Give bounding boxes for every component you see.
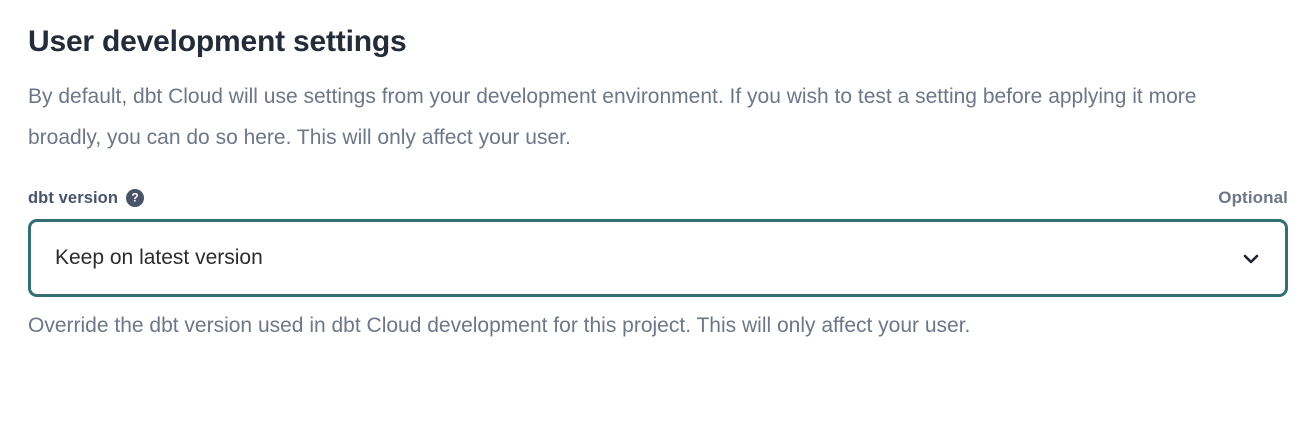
dbt-version-hint: Override the dbt version used in dbt Clo… xyxy=(28,297,1288,341)
help-circle-icon[interactable]: ? xyxy=(126,189,144,207)
dbt-version-selected-value: Keep on latest version xyxy=(55,244,1239,272)
page-title: User development settings xyxy=(28,0,1288,62)
chevron-down-icon xyxy=(1239,246,1263,270)
section-description: By default, dbt Cloud will use settings … xyxy=(28,62,1238,158)
dbt-version-select[interactable]: Keep on latest version xyxy=(28,219,1288,297)
dbt-version-field: dbt version ? Optional Keep on latest ve… xyxy=(28,186,1288,341)
user-development-settings-panel: User development settings By default, db… xyxy=(0,0,1316,430)
dbt-version-label: dbt version xyxy=(28,187,118,209)
dbt-version-label-group: dbt version ? xyxy=(28,187,144,209)
dbt-version-field-header: dbt version ? Optional xyxy=(28,186,1288,210)
optional-badge: Optional xyxy=(1218,187,1288,209)
